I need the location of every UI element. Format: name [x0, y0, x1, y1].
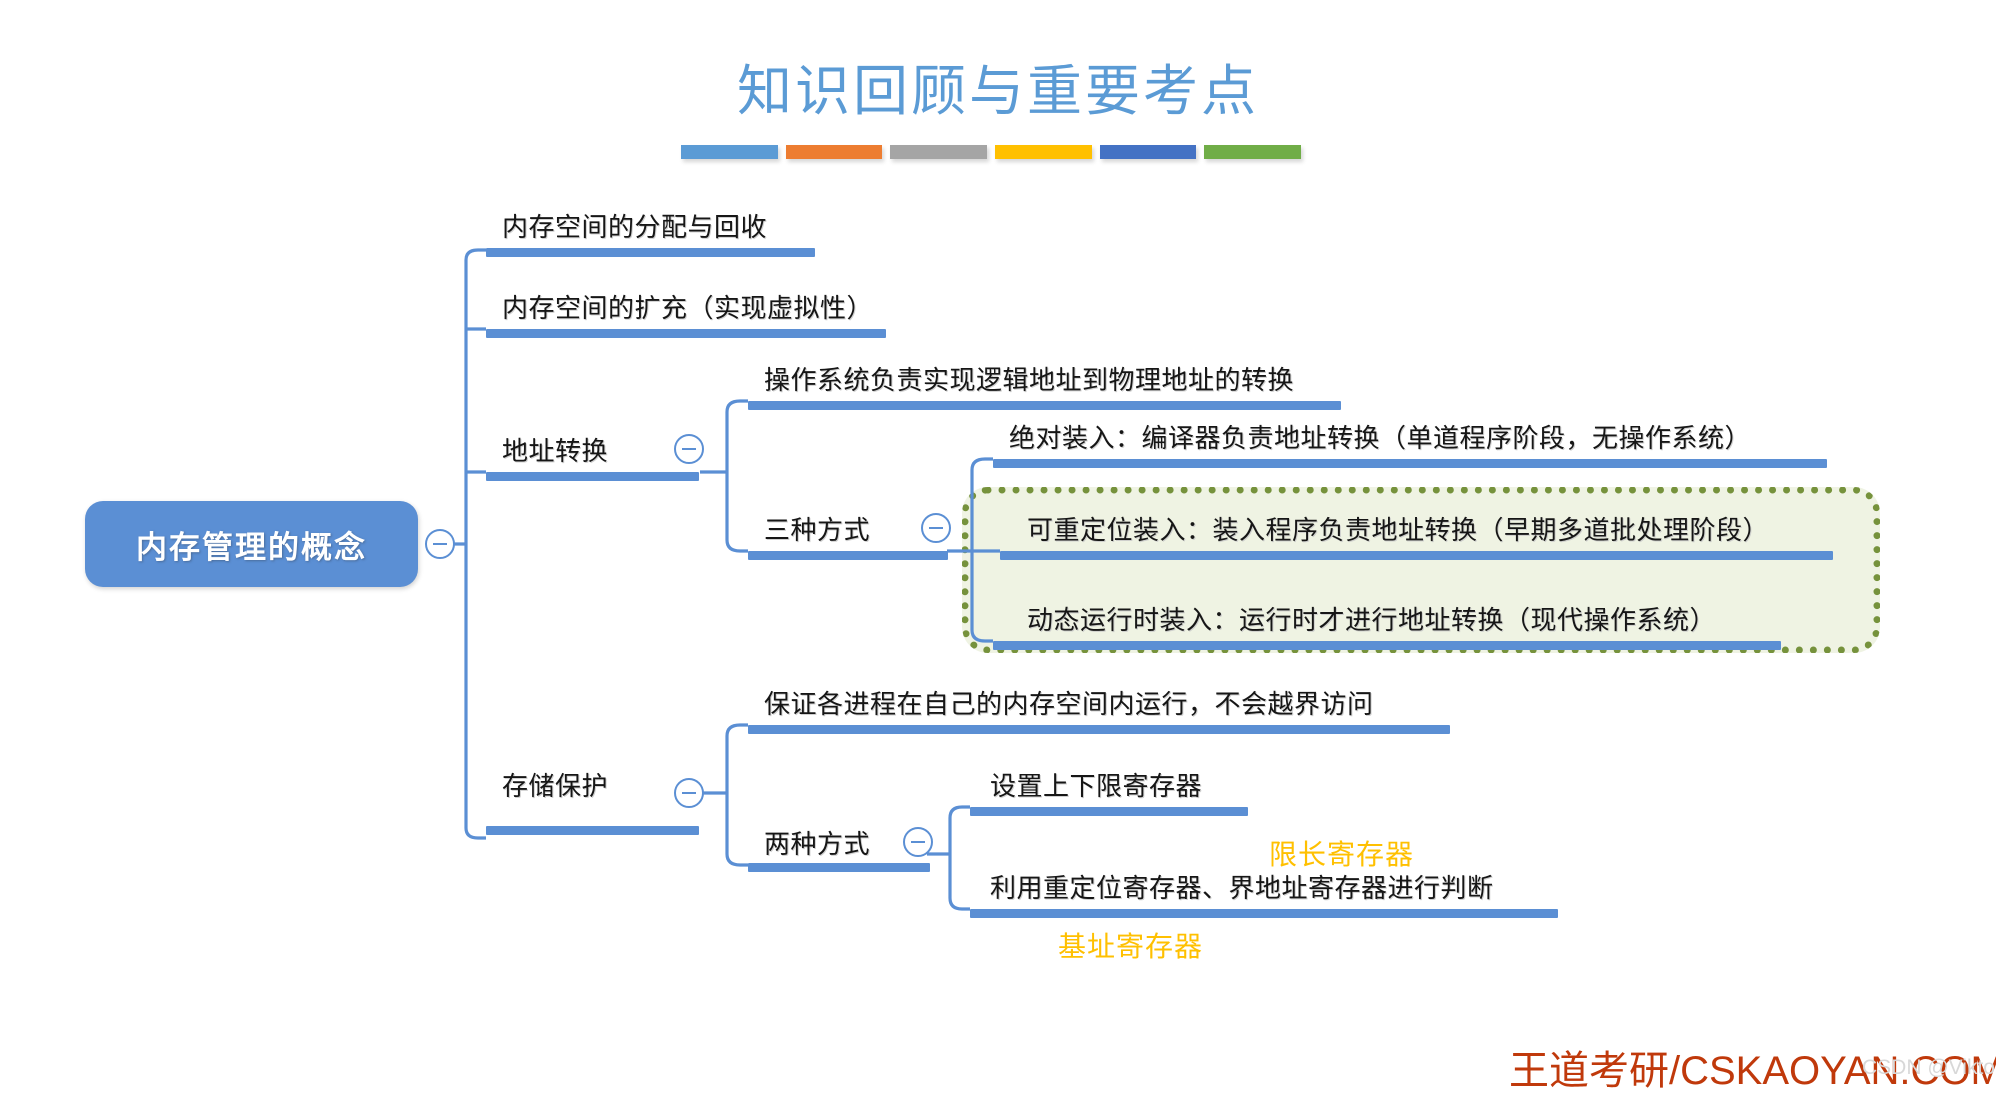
- node-underline-expansion-virtual: [486, 329, 886, 338]
- root-node-label: 内存管理的概念: [85, 501, 418, 587]
- title-bar-orange: [786, 145, 883, 159]
- page-title: 知识回顾与重要考点: [0, 46, 1996, 126]
- node-underline-dynamic-runtime-loading: [993, 641, 1781, 650]
- slide-canvas: 知识回顾与重要考点: [0, 0, 1996, 1116]
- node-underline-os-does-translation: [748, 401, 1341, 410]
- collapse-toggle-three-methods[interactable]: [921, 513, 951, 543]
- node-label-three-methods[interactable]: 三种方式: [764, 510, 870, 547]
- annotation-limit-register: 限长寄存器: [1269, 833, 1414, 873]
- node-underline-absolute-loading: [993, 459, 1827, 468]
- node-label-protection-description[interactable]: 保证各进程在自己的内存空间内运行，不会越界访问: [764, 684, 1374, 721]
- node-underline-allocation-recycling: [486, 248, 815, 257]
- node-underline-bound-registers: [970, 807, 1248, 816]
- node-label-expansion-virtual[interactable]: 内存空间的扩充（实现虚拟性）: [502, 288, 873, 325]
- node-underline-relocatable-loading: [1000, 551, 1833, 560]
- node-label-absolute-loading[interactable]: 绝对装入：编译器负责地址转换（单道程序阶段，无操作系统）: [1009, 418, 1751, 455]
- node-label-address-translation[interactable]: 地址转换: [502, 431, 608, 468]
- node-label-relocation-limit-registers[interactable]: 利用重定位寄存器、界地址寄存器进行判断: [990, 868, 1494, 905]
- title-bar-gray: [890, 145, 987, 159]
- node-underline-relocation-limit-registers: [970, 909, 1558, 918]
- annotation-base-register: 基址寄存器: [1058, 925, 1203, 965]
- node-underline-three-methods: [748, 551, 948, 560]
- node-label-two-methods[interactable]: 两种方式: [764, 824, 870, 861]
- node-label-dynamic-runtime-loading[interactable]: 动态运行时装入：运行时才进行地址转换（现代操作系统）: [1027, 600, 1716, 637]
- node-underline-protection-description: [748, 725, 1450, 734]
- node-label-allocation-recycling[interactable]: 内存空间的分配与回收: [502, 207, 767, 244]
- collapse-toggle-root[interactable]: [425, 529, 455, 559]
- title-bar-green: [1204, 145, 1301, 159]
- node-label-memory-protection[interactable]: 存储保护: [502, 766, 608, 803]
- title-color-bars: [681, 145, 1301, 159]
- csdn-watermark: CSDN @Viktoriae: [1862, 1056, 1996, 1080]
- node-label-os-does-translation[interactable]: 操作系统负责实现逻辑地址到物理地址的转换: [764, 360, 1294, 397]
- node-label-relocatable-loading[interactable]: 可重定位装入：装入程序负责地址转换（早期多道批处理阶段）: [1027, 510, 1769, 547]
- node-underline-memory-protection: [486, 826, 699, 835]
- title-bar-blue: [681, 145, 778, 159]
- node-label-bound-registers[interactable]: 设置上下限寄存器: [990, 766, 1202, 803]
- collapse-toggle-two-methods[interactable]: [903, 827, 933, 857]
- collapse-toggle-address-translation[interactable]: [674, 434, 704, 464]
- node-underline-two-methods: [748, 863, 930, 872]
- node-underline-address-translation: [486, 472, 699, 481]
- title-bar-indigo: [1100, 145, 1197, 159]
- title-bar-yellow: [995, 145, 1092, 159]
- root-node[interactable]: 内存管理的概念: [85, 501, 418, 587]
- collapse-toggle-memory-protection[interactable]: [674, 778, 704, 808]
